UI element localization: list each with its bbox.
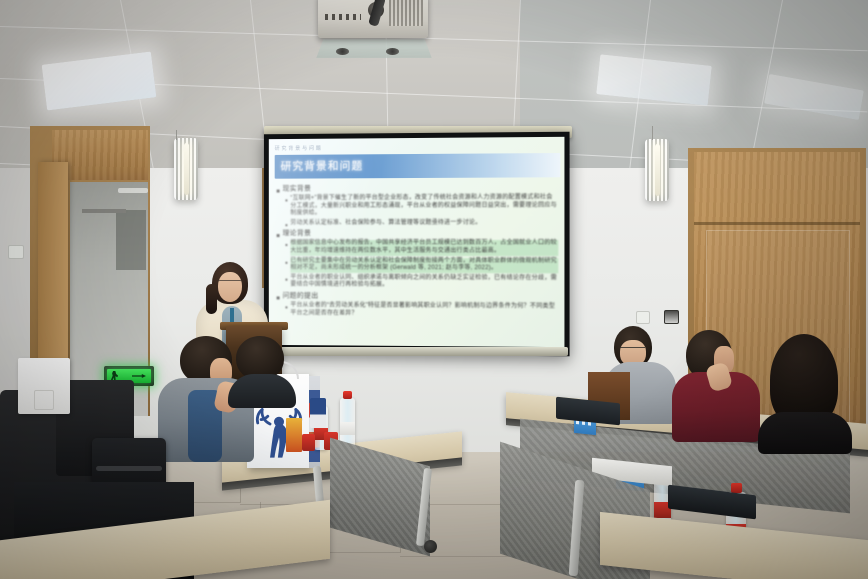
attendee-top (758, 412, 852, 454)
slide-section-heading: 现实背景 (277, 184, 559, 193)
attendee-right-maroon (672, 330, 760, 442)
projector-controls-icon (325, 14, 361, 20)
projected-slide: 研究背景与问题 研究背景和问题 现实背景 “互联网+”背景下催生了新的平台型企业… (269, 137, 565, 347)
slide-title-bar: 研究背景和问题 (275, 153, 561, 179)
slide-title: 研究背景和问题 (281, 157, 364, 173)
door-left-wall-trim (82, 209, 126, 213)
canned-drink (302, 434, 315, 451)
table-caster (424, 540, 437, 553)
snack-pack (286, 418, 302, 452)
slide-bullet: 根据国家信息中心发布的报告，中国共享经济平台员工规模已达到数百万人，占全国就业人… (285, 240, 558, 255)
wall-sensor[interactable] (664, 310, 679, 324)
cabinet-label-icon (34, 390, 54, 410)
laptop-bag-zipper (96, 466, 162, 471)
slide-body: 现实背景 “互联网+”背景下催生了新的平台型企业形态，改变了传统社会资源和人力资… (277, 181, 559, 343)
exit-arrow-icon (132, 374, 146, 378)
eyeglasses-icon (218, 280, 242, 287)
projector-mount-plate (316, 39, 431, 57)
presenter-ponytail (206, 284, 217, 314)
slide-bullet: 已有研究主要集中在劳动关系认定和社会保障制度衔接两个方面，对具体职业群体的微观机… (285, 257, 558, 273)
attendee-front-left-second (228, 336, 296, 400)
projection-screen: 研究背景与问题 研究背景和问题 现实背景 “互联网+”背景下催生了新的平台型企业… (264, 132, 570, 357)
projection-screen-bottom-bar (264, 347, 568, 356)
sconce-lamp-icon (655, 144, 660, 196)
ceiling-fixture-hole-left (336, 48, 349, 55)
sconce-right-wire (652, 126, 653, 140)
door-left-opening-shadow (116, 210, 146, 270)
sconce-left-wire (176, 130, 177, 140)
attendee-far-right (756, 334, 852, 454)
ceiling-fixture-hole-right (386, 48, 399, 55)
slide-bullet: 平台从业者的“去劳动关系化”特征是否显著影响其职业认同？影响机制与边界条件为何？… (285, 302, 558, 319)
slide-bullet: “互联网+”背景下催生了新的平台型企业形态，改变了传统社会资源和人力资源的配置模… (285, 194, 558, 218)
presenter-face (218, 272, 242, 302)
eyeglasses-icon (620, 347, 645, 354)
sconce-lamp-icon (184, 143, 189, 195)
wall-outlet[interactable] (636, 311, 650, 324)
bottle-cap (343, 391, 352, 399)
door-right-rail (694, 222, 860, 225)
attendee-dark-jacket (228, 374, 296, 408)
slide-section-heading: 问题的提出 (277, 292, 559, 301)
wall-outlet-left[interactable] (8, 245, 24, 259)
door-closer-icon (118, 188, 148, 193)
slide-bullet: 平台从业者的职业认同、组织承诺与离职倾向之间的关系仍缺乏实证检验，已有结论存在分… (285, 274, 558, 290)
wall-sconce-right (645, 139, 669, 201)
paper-cup (310, 398, 326, 428)
seminar-room-photo: 研究背景与问题 研究背景和问题 现实背景 “互联网+”背景下催生了新的平台型企业… (0, 0, 868, 579)
slide-section-heading: 理论背景 (277, 230, 559, 238)
white-cabinet (18, 358, 70, 414)
slide-bullet: 劳动关系认定标准、社会保险参与、算法管理等议题亟待进一步讨论。 (285, 220, 558, 228)
bottle-cap (731, 483, 742, 493)
wall-sconce-left (174, 138, 198, 200)
projector-vent-icon (389, 0, 423, 26)
